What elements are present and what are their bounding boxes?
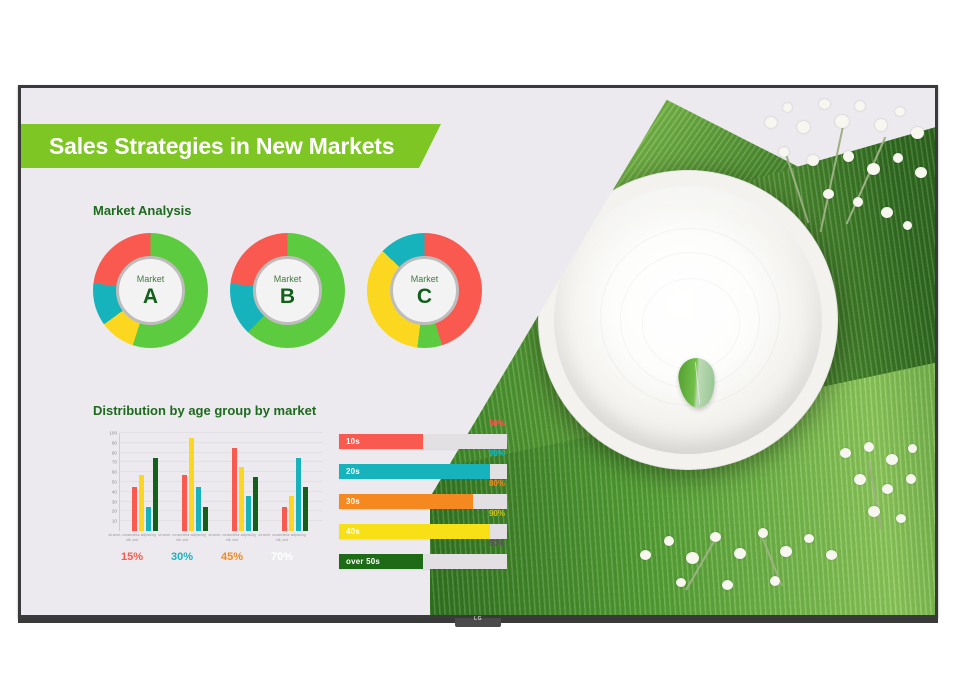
age-group-percent: 90%: [489, 449, 505, 458]
column-bar-dark-green: [203, 507, 208, 532]
y-axis-tick: 30: [112, 499, 117, 504]
donut-letter: B: [280, 286, 295, 307]
title-banner: Sales Strategies in New Markets: [21, 124, 441, 168]
column-group: [182, 438, 208, 531]
age-group-row-10s[interactable]: 50%10s: [339, 428, 507, 454]
column-bar-yellow: [189, 438, 194, 531]
column-category-label: sit amet, consectetur adipiscing elit, s…: [207, 533, 257, 542]
page-title: Sales Strategies in New Markets: [49, 133, 394, 160]
column-bar-teal: [146, 507, 151, 532]
bar-track: 40s: [339, 524, 507, 539]
slide-content: Sales Strategies in New Markets Market A…: [21, 88, 521, 618]
column-chart: 102030405060708090100 sit amet, consecte…: [93, 433, 323, 553]
gridline: 90: [120, 442, 323, 443]
column-bar-dark-green: [153, 458, 158, 532]
slide-canvas: Sales Strategies in New Markets Market A…: [21, 88, 935, 618]
flower-cluster-bottom: [630, 518, 850, 618]
column-group-percent: 15%: [107, 551, 157, 563]
bar-label: over 50s: [346, 557, 380, 566]
donut-market-b[interactable]: MarketB: [230, 233, 345, 348]
y-axis-tick: 90: [112, 440, 117, 445]
donut-center: MarketB: [253, 256, 322, 325]
y-axis-tick: 70: [112, 460, 117, 465]
y-axis-tick: 60: [112, 470, 117, 475]
age-group-bar-list: 50%10s90%20s80%30s90%40s50%over 50s: [339, 428, 507, 578]
donut-label: Market: [274, 275, 302, 284]
brand-logo: LG: [465, 616, 491, 622]
donut-letter: C: [417, 286, 432, 307]
column-bar-yellow: [239, 467, 244, 531]
age-group-row-40s[interactable]: 90%40s: [339, 518, 507, 544]
section-heading-distribution: Distribution by age group by market: [93, 403, 316, 418]
donut-market-c[interactable]: MarketC: [367, 233, 482, 348]
column-group-percent: 45%: [207, 551, 257, 563]
column-bar-teal: [196, 487, 201, 531]
bar-track: 30s: [339, 494, 507, 509]
y-axis-tick: 10: [112, 519, 117, 524]
gridline: 100: [120, 432, 323, 433]
column-category-label: sit amet, consectetur adipiscing elit, s…: [107, 533, 157, 542]
age-group-percent: 50%: [489, 539, 505, 548]
age-group-row-30s[interactable]: 80%30s: [339, 488, 507, 514]
donut-letter: A: [143, 286, 158, 307]
bar-track: 20s: [339, 464, 507, 479]
bar-fill: 20s: [339, 464, 490, 479]
bar-fill: over 50s: [339, 554, 423, 569]
y-axis-tick: 80: [112, 450, 117, 455]
column-bar-teal: [296, 458, 301, 532]
donut-market-a[interactable]: MarketA: [93, 233, 208, 348]
column-chart-plot: 102030405060708090100: [119, 433, 323, 531]
column-category-label: sit amet, consectetur adipiscing elit, s…: [157, 533, 207, 542]
column-bar-red: [232, 448, 237, 531]
column-bar-yellow: [139, 475, 144, 531]
donut-chart-group: MarketAMarketBMarketC: [93, 233, 482, 348]
bar-label: 10s: [346, 437, 360, 446]
column-bar-dark-green: [253, 477, 258, 531]
column-group-percent: 30%: [157, 551, 207, 563]
age-group-row-20s[interactable]: 90%20s: [339, 458, 507, 484]
age-group-percent: 80%: [489, 479, 505, 488]
column-group: [282, 458, 308, 532]
bar-label: 20s: [346, 467, 360, 476]
bar-fill: 40s: [339, 524, 490, 539]
y-axis-tick: 20: [112, 509, 117, 514]
column-bar-red: [132, 487, 137, 531]
donut-center: MarketA: [116, 256, 185, 325]
bar-fill: 30s: [339, 494, 473, 509]
column-bar-teal: [246, 496, 251, 531]
bar-track: 10s: [339, 434, 507, 449]
column-group-percent: 70%: [257, 551, 307, 563]
bar-track: over 50s: [339, 554, 507, 569]
column-category-label: sit amet, consectetur adipiscing elit, s…: [257, 533, 307, 542]
monitor-display: Sales Strategies in New Markets Market A…: [18, 85, 938, 618]
age-group-percent: 50%: [489, 419, 505, 428]
donut-label: Market: [411, 275, 439, 284]
column-bar-red: [182, 475, 187, 531]
column-group: [232, 448, 258, 531]
gridline: 80: [120, 452, 323, 453]
bar-label: 40s: [346, 527, 360, 536]
column-bar-yellow: [289, 496, 294, 531]
y-axis-tick: 100: [109, 431, 117, 436]
section-heading-market-analysis: Market Analysis: [93, 203, 192, 218]
y-axis-tick: 50: [112, 480, 117, 485]
donut-label: Market: [137, 275, 165, 284]
column-bar-red: [282, 507, 287, 532]
donut-center: MarketC: [390, 256, 459, 325]
column-group: [132, 458, 158, 532]
bar-fill: 10s: [339, 434, 423, 449]
y-axis-tick: 40: [112, 489, 117, 494]
bar-label: 30s: [346, 497, 360, 506]
age-group-percent: 90%: [489, 509, 505, 518]
column-bar-dark-green: [303, 487, 308, 531]
age-group-row-over-50s[interactable]: 50%over 50s: [339, 548, 507, 574]
